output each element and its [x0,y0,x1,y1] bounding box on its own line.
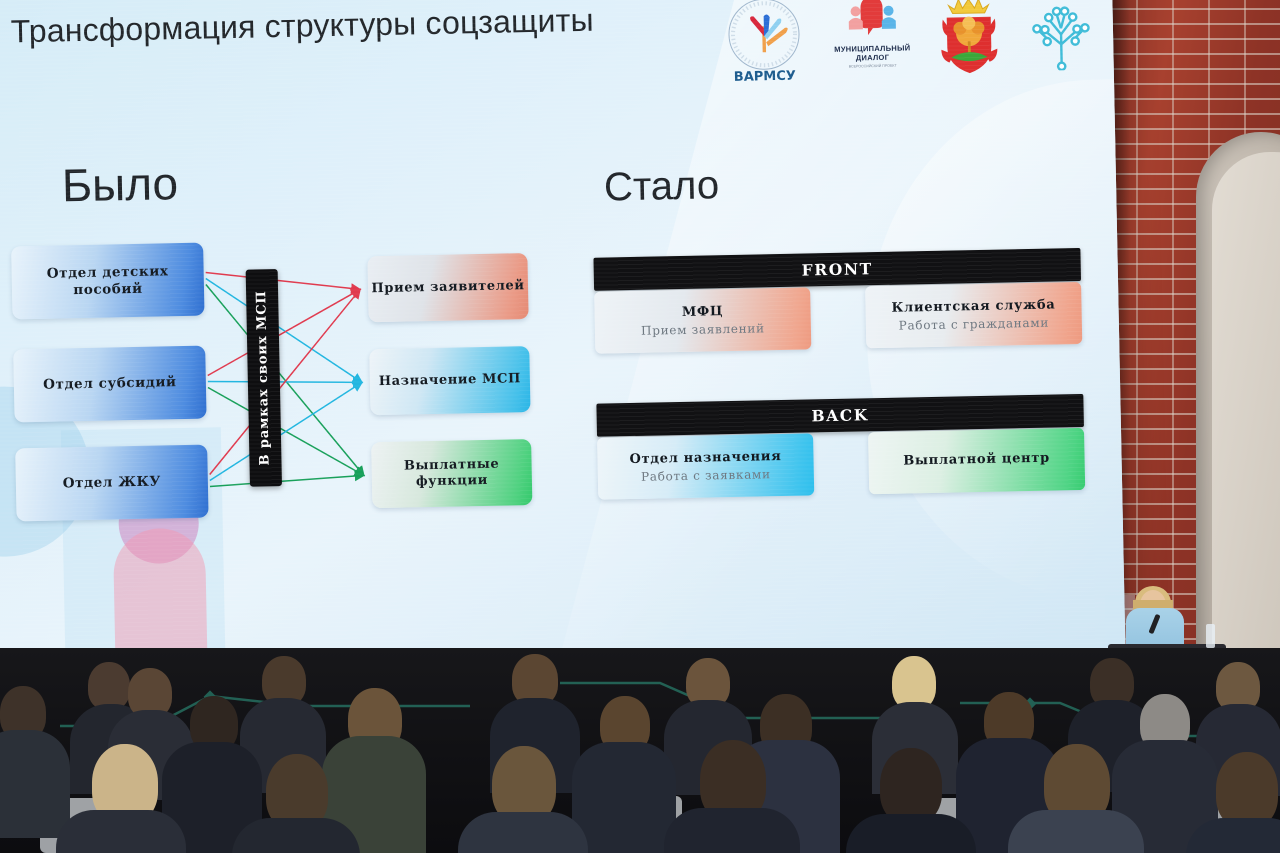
target-box-label: Назначение МСП [379,371,521,390]
municipal-dialog-logo: МУНИЦИПАЛЬНЫЙ ДИАЛОГ ВСЕРОССИЙСКИЙ ПРОЕК… [836,0,908,78]
audience-body [232,818,360,853]
water-bottle [1206,624,1215,648]
source-box-label: Отдел субсидий [43,374,177,394]
audience-head [88,662,130,710]
audience-body [56,810,186,853]
after-diagram: FRONT МФЦ Прием заявлений Клиентская слу… [593,248,1098,528]
card-assignment-department[interactable]: Отдел назначения Работа с заявками [597,433,814,499]
target-box-label: Выплатные функции [371,456,532,492]
audience-body [664,808,800,853]
svg-text:ВАРМСУ: ВАРМСУ [734,69,796,85]
target-box-payouts[interactable]: Выплатные функции [371,439,532,508]
card-subtitle: Работа с гражданами [899,316,1050,333]
audience-head [1216,752,1278,828]
card-title: МФЦ [682,304,724,320]
card-title: Клиентская служба [891,297,1055,315]
source-box-child-benefits[interactable]: Отдел детских пособий [11,243,204,320]
slide-surface: Трансформация структуры соцзащиты ВАРМСУ [0,0,1126,682]
audience-body [0,730,70,838]
divider-bar-msp: В рамках своих МСП [246,269,282,487]
projection-screen: Трансформация структуры соцзащиты ВАРМСУ [0,0,1126,682]
target-box-reception[interactable]: Прием заявителей [367,253,528,322]
logo-row: ВАРМСУ МУНИЦИПАЛЬНЫЙ ДИАЛОГ ВСЕРОССИЙСКИ… [722,0,1092,85]
heading-after: Стало [604,163,720,210]
audience-body [846,814,976,853]
page-title: Трансформация структуры соцзащиты [10,2,594,51]
back-card-row: Отдел назначения Работа с заявками Выпла… [597,428,1085,500]
source-box-label: Отдел детских пособий [12,262,205,300]
card-subtitle: Прием заявлений [641,321,765,337]
audience-body [572,742,676,853]
municipal-dialog-label: МУНИЦИПАЛЬНЫЙ ДИАЛОГ [834,44,911,63]
tree-network-logo [1030,0,1091,71]
heading-before: Было [61,156,178,212]
target-box-label: Прием заявителей [371,278,524,297]
source-box-subsidies[interactable]: Отдел субсидий [13,346,206,423]
municipal-dialog-sub: ВСЕРОССИЙСКИЙ ПРОЕКТ [849,64,897,69]
audience-body [1008,810,1144,853]
source-box-utilities[interactable]: Отдел ЖКУ [15,445,208,522]
card-client-service[interactable]: Клиентская служба Работа с гражданами [865,282,1082,348]
audience-head [880,748,942,824]
wall-arch-inner [1212,152,1280,692]
card-title: Выплатной центр [903,451,1050,469]
card-subtitle: Работа с заявками [641,467,771,484]
card-payment-center[interactable]: Выплатной центр [868,428,1085,494]
audience [0,648,1280,853]
before-diagram: Отдел детских пособий Отдел субсидий Отд… [0,235,565,536]
card-mfc[interactable]: МФЦ Прием заявлений [594,287,811,353]
audience-body [458,812,588,853]
divider-bar-label: В рамках своих МСП [255,290,274,465]
card-title: Отдел назначения [629,449,781,467]
front-card-row: МФЦ Прием заявлений Клиентская служба Ра… [594,282,1082,354]
varmsu-logo: ВАРМСУ [722,0,806,85]
conference-photo: Трансформация структуры соцзащиты ВАРМСУ [0,0,1280,853]
target-box-assignment[interactable]: Назначение МСП [369,346,530,415]
lipetsk-coat-of-arms [938,0,1000,78]
source-box-label: Отдел ЖКУ [63,474,162,493]
